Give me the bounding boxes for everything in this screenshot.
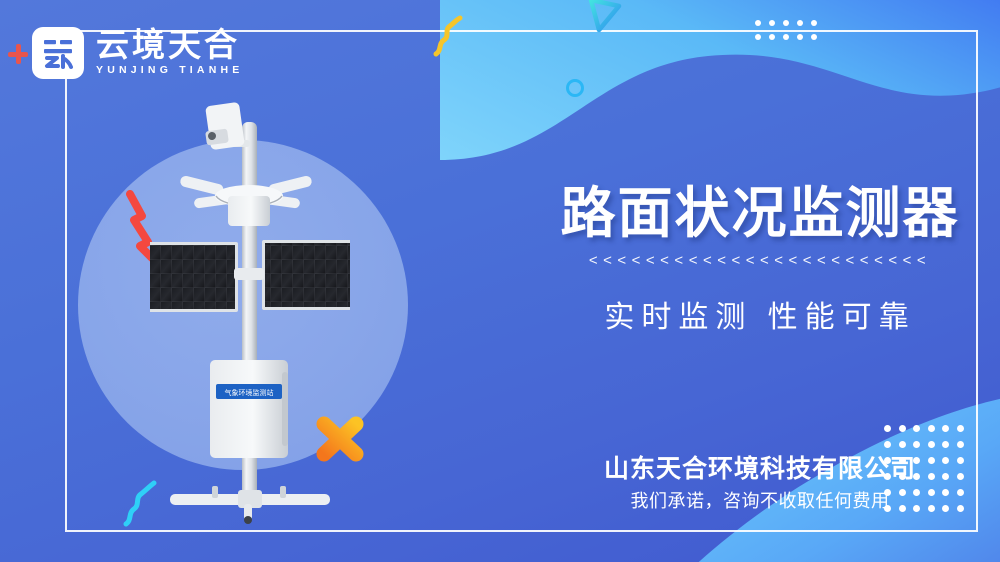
logo-name-cn: 云境天合 <box>96 28 243 63</box>
control-box-part: 气象环境监测站 <box>210 360 288 458</box>
solar-panel-left-part <box>150 242 238 312</box>
company-name: 山东天合环境科技有限公司 <box>540 449 980 485</box>
control-box-label: 气象环境监测站 <box>225 388 274 397</box>
logo-name-en: YUNJING TIANHE <box>96 64 243 78</box>
chevron-divider: <<<<<<<<<<<<<<<<<<<<<<<< <box>540 252 980 269</box>
camera-part <box>205 102 245 150</box>
logo-mark-icon <box>32 27 84 79</box>
road-surface-condition-monitor-illustration: 气象环境监测站 <box>150 92 350 532</box>
yellow-squiggle-icon <box>430 12 470 60</box>
solar-panel-right-part <box>262 240 350 310</box>
logo-text: 云境天合 YUNJING TIANHE <box>96 28 243 77</box>
page-title: 路面状况监测器 <box>540 168 980 248</box>
red-plus-icon <box>8 44 28 64</box>
promo-banner: 云境天合 YUNJING TIANHE <box>0 0 1000 562</box>
hero-text-block: 路面状况监测器 <<<<<<<<<<<<<<<<<<<<<<<< 实时监测 性能… <box>540 0 980 562</box>
hero-subtitle: 实时监测 性能可靠 <box>540 292 980 336</box>
base-plate-part <box>170 486 330 524</box>
company-promise: 我们承诺，咨询不收取任何费用 <box>540 487 980 513</box>
brand-logo[interactable]: 云境天合 YUNJING TIANHE <box>32 27 243 79</box>
